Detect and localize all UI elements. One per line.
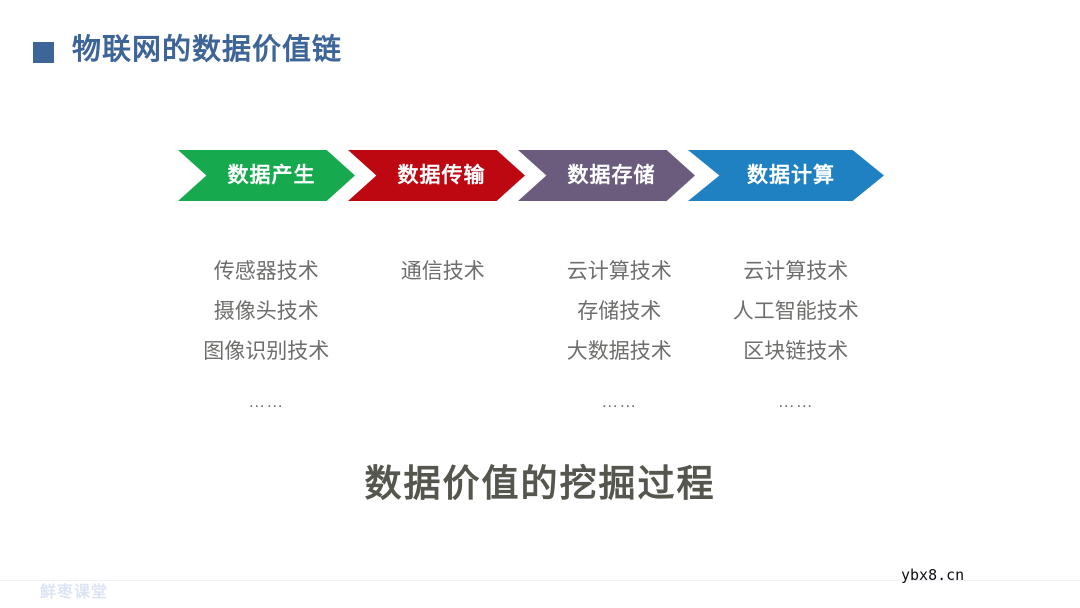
process-stage-label: 数据计算 (737, 165, 835, 186)
process-stage-chevron: 数据计算 (688, 150, 884, 201)
technology-ellipsis: …… (248, 382, 284, 422)
process-stage-label: 数据存储 (558, 165, 656, 186)
technology-item: 传感器技术 (214, 252, 319, 292)
process-stage-label: 数据传输 (388, 165, 486, 186)
technology-item: 大数据技术 (567, 332, 672, 372)
process-stage-chevron: 数据传输 (348, 150, 525, 201)
process-stage-label: 数据产生 (218, 165, 316, 186)
technology-column: 云计算技术人工智能技术区块链技术…… (708, 252, 885, 422)
technology-item: 通信技术 (401, 252, 485, 292)
technology-item: 存储技术 (577, 292, 661, 332)
process-stage-chevron: 数据存储 (518, 150, 695, 201)
page-title: 物联网的数据价值链 (33, 36, 342, 65)
brand-watermark: 鲜枣课堂 (40, 583, 108, 602)
process-stage-chevron: 数据产生 (178, 150, 355, 201)
square-bullet-icon (33, 42, 54, 63)
site-watermark: ybx8.cn (901, 566, 964, 584)
technology-columns: 传感器技术摄像头技术图像识别技术……通信技术..云计算技术存储技术大数据技术……… (178, 252, 884, 422)
technology-column: 云计算技术存储技术大数据技术…… (531, 252, 708, 422)
summary-heading: 数据价值的挖掘过程 (0, 462, 1080, 506)
technology-item: 人工智能技术 (733, 292, 859, 332)
technology-column: 传感器技术摄像头技术图像识别技术…… (178, 252, 355, 422)
technology-ellipsis: …… (601, 382, 637, 422)
slide-title-text: 物联网的数据价值链 (72, 36, 342, 65)
technology-item: 图像识别技术 (203, 332, 329, 372)
technology-item: 区块链技术 (743, 332, 848, 372)
technology-column: 通信技术.. (355, 252, 532, 422)
process-flow-chevrons: 数据产生数据传输数据存储数据计算 (178, 150, 884, 201)
technology-ellipsis: …… (778, 382, 814, 422)
technology-item: 摄像头技术 (214, 292, 319, 332)
technology-item: 云计算技术 (567, 252, 672, 292)
technology-item: 云计算技术 (743, 252, 848, 292)
